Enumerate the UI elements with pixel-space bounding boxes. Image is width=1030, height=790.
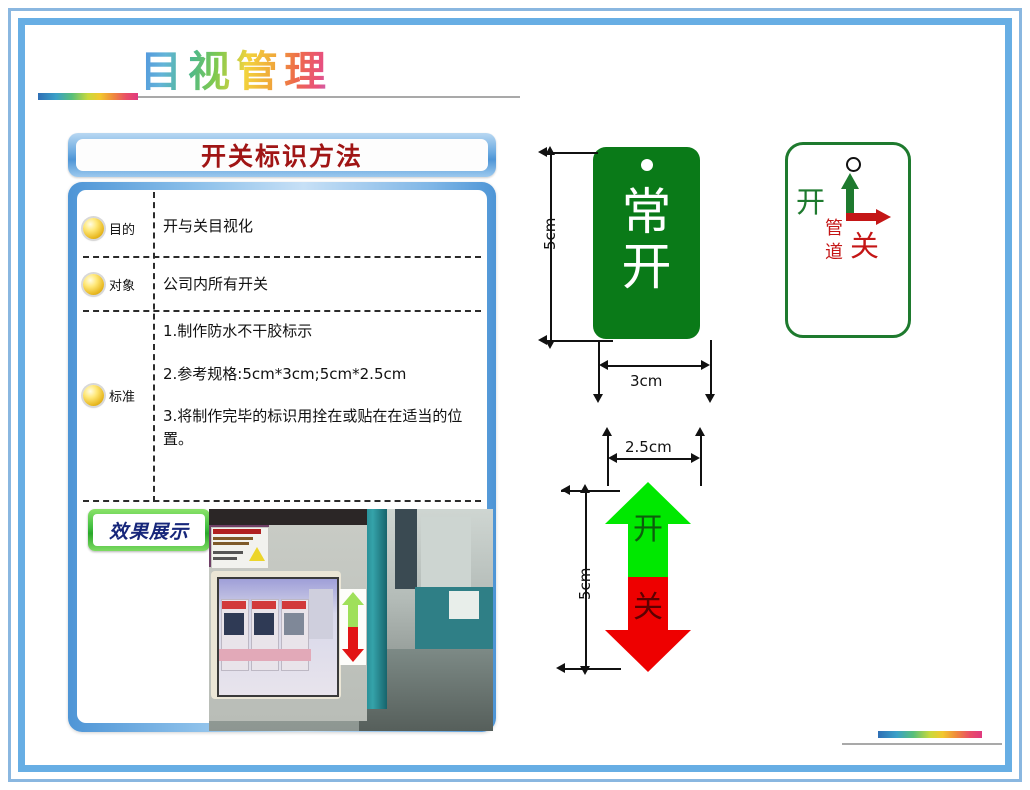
photo-breaker-switch-3 (284, 613, 304, 635)
arrow-sticker-ext-top (578, 490, 620, 492)
photo-breaker-top-1 (222, 601, 246, 609)
label-target: 对象 (109, 275, 135, 294)
bullet-sphere-icon (83, 274, 104, 295)
green-tag-ext-bottom-arrow (538, 335, 547, 345)
arrow-sticker-ext-bottom-arrow (556, 663, 565, 673)
photo-window-dark (395, 509, 417, 589)
footer-rainbow-bar (878, 731, 982, 738)
green-tag-text: 常 开 (593, 185, 700, 295)
value-purpose: 开与关目视化 (163, 215, 477, 238)
bullet-sphere-icon (83, 218, 104, 239)
photo-sticker-down-arrow-icon (342, 649, 364, 662)
effect-display-badge: 效果展示 (88, 509, 210, 551)
green-tag-ext-top (543, 152, 598, 154)
green-tag-dim-h-arrow-right (701, 360, 710, 370)
photo-breaker-top-3 (282, 601, 306, 609)
arrow-sticker-width-label: 2.5cm (625, 438, 672, 456)
green-tag-ext-top-arrow (538, 147, 547, 157)
standard-item-1: 1.制作防水不干胶标示 (163, 320, 477, 343)
white-tag-right-arrow-shaft (846, 213, 878, 221)
value-standard-list: 1.制作防水不干胶标示 2.参考规格:5cm*3cm;5cm*2.5cm 3.将… (163, 320, 477, 450)
arrow-sticker-guide-right (700, 432, 702, 486)
photo-warning-line3 (213, 551, 243, 554)
photo-breaker-switch-2 (254, 613, 274, 635)
photo-hazard-triangle-icon (249, 547, 265, 561)
arrow-sticker-guide-right-arrow (695, 427, 705, 436)
panel-header-title: 开关标识方法 (201, 137, 363, 173)
green-tag-hole-icon (641, 159, 653, 171)
arrow-sticker-dim-h-line (613, 458, 695, 460)
photo-warning-line4 (213, 557, 237, 560)
arrow-sticker-ext-bottom (561, 668, 621, 670)
table-row-label-purpose: 目的 (83, 204, 153, 252)
green-tag-guide-right-arrow (705, 394, 715, 403)
value-target: 公司内所有开关 (163, 273, 477, 296)
green-tag-ext-bottom (543, 340, 613, 342)
photo-breaker-band (219, 649, 311, 661)
label-purpose: 目的 (109, 219, 135, 238)
green-tag-line-2: 开 (593, 240, 700, 295)
arrow-sticker-height-label: 5cm (576, 568, 594, 600)
white-tag-open-label: 开 (796, 179, 825, 221)
photo-breaker-switch-1 (224, 613, 244, 635)
white-tag-up-arrow-icon (841, 173, 859, 189)
arrow-sticker-up-label: 开 (605, 504, 691, 548)
page-title: 目视管理 (140, 38, 332, 99)
title-rainbow-bar (38, 93, 138, 100)
table-divider-1 (83, 256, 481, 258)
photo-sticker-up-arrow-icon (342, 592, 364, 605)
photo-cabinet-label (449, 591, 479, 619)
photo-warning-line1 (213, 537, 253, 540)
white-tag-close-label: 关 (850, 223, 879, 265)
table-divider-2 (83, 310, 481, 312)
effect-display-badge-inner: 效果展示 (93, 514, 205, 546)
green-tag: 常 开 (593, 147, 700, 339)
photo-far-wall (421, 517, 471, 587)
green-tag-guide-left-arrow (593, 394, 603, 403)
white-tag: 开 关 管道 (785, 142, 911, 338)
bullet-sphere-icon (83, 385, 104, 406)
arrow-sticker-guide-left-arrow (602, 427, 612, 436)
arrow-sticker-dim-h-arrow-right (691, 453, 700, 463)
arrow-sticker-dim-h-arrow-left (608, 453, 617, 463)
label-standard: 标准 (109, 386, 135, 405)
panel-header-inner: 开关标识方法 (76, 139, 488, 171)
photo-breaker-panel-right (309, 589, 333, 639)
green-tag-line-1: 常 (593, 185, 700, 240)
photo-breaker-top-2 (252, 601, 276, 609)
green-tag-guide-right (710, 340, 712, 396)
arrow-sticker-ext-top2 (561, 490, 581, 492)
green-tag-height-label: 5cm (541, 218, 559, 250)
green-tag-dim-h-arrow-left (599, 360, 608, 370)
photo-cable-bundle (209, 509, 367, 525)
panel-header: 开关标识方法 (68, 133, 496, 177)
arrow-sticker: 开 关 (605, 482, 691, 672)
effect-photo (209, 509, 493, 731)
arrow-sticker-down-head-icon (605, 630, 691, 672)
white-tag-hole-icon (846, 157, 861, 172)
photo-sticker-up-shaft (348, 605, 358, 627)
photo-sticker-down-shaft (348, 627, 358, 649)
table-vertical-divider (153, 192, 155, 502)
white-tag-right-arrow-icon (876, 209, 891, 225)
white-tag-pipe-label: 管道 (824, 217, 844, 266)
effect-display-label: 效果展示 (109, 517, 189, 544)
photo-warning-line2 (213, 542, 249, 545)
slide-root: 目视管理 开关标识方法 目的 开与关目视化 对象 公司内所有开关 (0, 0, 1030, 790)
green-tag-dim-h-line (604, 365, 704, 367)
photo-warning-title (213, 529, 261, 534)
arrow-sticker-down-label: 关 (605, 582, 691, 626)
table-row-label-target: 对象 (83, 262, 153, 306)
table-row-label-standard: 标准 (83, 382, 153, 408)
standard-item-3: 3.将制作完毕的标识用拴在或贴在在适当的位置。 (163, 405, 477, 450)
footer-underline (842, 743, 1002, 745)
table-divider-3 (83, 500, 481, 502)
green-tag-width-label: 3cm (630, 372, 662, 390)
standard-item-2: 2.参考规格:5cm*3cm;5cm*2.5cm (163, 363, 477, 386)
